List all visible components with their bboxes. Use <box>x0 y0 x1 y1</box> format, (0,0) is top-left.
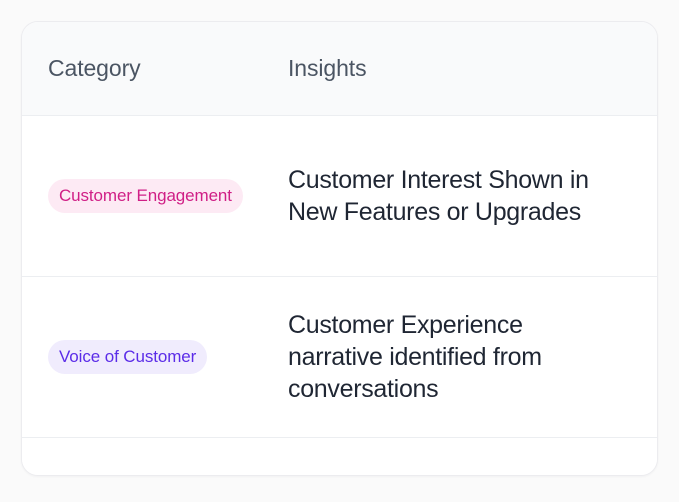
page-root: Category Insights Customer Engagement Cu… <box>0 0 679 502</box>
table-row[interactable]: Customer Engagement Customer Interest Sh… <box>22 116 657 277</box>
table-cell-category: Customer Engagement <box>22 179 280 213</box>
table-body: Customer Engagement Customer Interest Sh… <box>22 116 657 475</box>
table-header-cell-insights: Insights <box>280 55 657 83</box>
column-header-category: Category <box>48 55 141 81</box>
status-badge[interactable]: Voice of Customer <box>48 340 207 374</box>
insight-text: Customer Experience narrative identified… <box>288 309 618 405</box>
table-row[interactable]: Voice of Customer Customer Experience na… <box>22 277 657 438</box>
table-row-empty <box>22 438 657 475</box>
status-badge[interactable]: Customer Engagement <box>48 179 243 213</box>
table-cell-insights: Customer Experience narrative identified… <box>280 309 657 405</box>
column-header-insights: Insights <box>288 55 366 81</box>
table-header-row: Category Insights <box>22 22 657 116</box>
insight-text: Customer Interest Shown in New Features … <box>288 164 618 228</box>
insights-table-card: Category Insights Customer Engagement Cu… <box>21 21 658 476</box>
table-header-cell-category: Category <box>22 55 280 83</box>
table-cell-insights: Customer Interest Shown in New Features … <box>280 164 657 228</box>
table-cell-category: Voice of Customer <box>22 340 280 374</box>
